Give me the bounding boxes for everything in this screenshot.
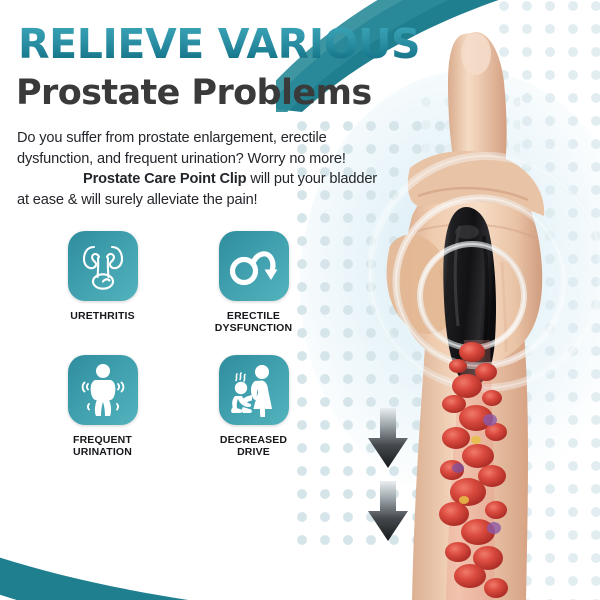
symptom-tile [68, 231, 138, 301]
symptom-card-row-2: FREQUENT URINATION [53, 355, 303, 459]
body-line-4: at ease & will surely alleviate the pain… [17, 190, 389, 211]
symptom-label-line1: URETHRITIS [70, 310, 135, 322]
symptom-label-line2: DRIVE [237, 446, 270, 458]
symptom-tile [219, 355, 289, 425]
symptom-tile [219, 231, 289, 301]
symptom-card-row-1: URETHRITIS ERECTILE DYSFUNCTION [53, 231, 303, 335]
blood-flow-direction-arrow [366, 408, 410, 470]
body-line-3-rest: will put your bladder [246, 171, 377, 187]
body-line-3: Prostate Care Point Clip will put your b… [17, 169, 389, 190]
subheadline: Prostate Problems [16, 76, 372, 111]
crossed-legs-person-icon [79, 363, 127, 417]
symptom-card-decreased-drive[interactable]: DECREASED DRIVE [204, 355, 303, 459]
body-copy: Do you suffer from prostate enlargement,… [17, 128, 389, 211]
symptom-label-line1: DECREASED [220, 434, 287, 446]
body-line-1: Do you suffer from prostate enlargement,… [17, 128, 389, 149]
symptom-card-grid: URETHRITIS ERECTILE DYSFUNCTION [53, 231, 303, 459]
symptom-label-line1: FREQUENT [73, 434, 132, 446]
symptom-card-erectile-dysfunction[interactable]: ERECTILE DYSFUNCTION [204, 231, 303, 335]
symptom-label-line1: ERECTILE [227, 310, 280, 322]
body-line-2: dysfunction, and frequent urination? Wor… [17, 149, 389, 170]
brand-name: Prostate Care Point Clip [83, 171, 246, 187]
symptom-tile [68, 355, 138, 425]
symptom-card-urethritis[interactable]: URETHRITIS [53, 231, 152, 335]
male-symbol-droop-icon [229, 244, 279, 288]
headline: RELIEVE VARIOUS [18, 24, 420, 65]
symptom-label-line2: URINATION [73, 446, 132, 458]
advertisement-canvas: RELIEVE VARIOUS Prostate Problems Do you… [0, 0, 600, 600]
symptom-label: URETHRITIS [70, 310, 135, 322]
blood-flow-direction-arrow [366, 481, 410, 543]
couple-low-drive-icon [228, 363, 280, 417]
symptom-label-line2: DYSFUNCTION [215, 322, 292, 334]
symptom-label: DECREASED DRIVE [220, 434, 287, 459]
symptom-label: ERECTILE DYSFUNCTION [215, 310, 292, 335]
symptom-card-frequent-urination[interactable]: FREQUENT URINATION [53, 355, 152, 459]
kidneys-bladder-icon [79, 240, 127, 292]
symptom-label: FREQUENT URINATION [73, 434, 132, 459]
